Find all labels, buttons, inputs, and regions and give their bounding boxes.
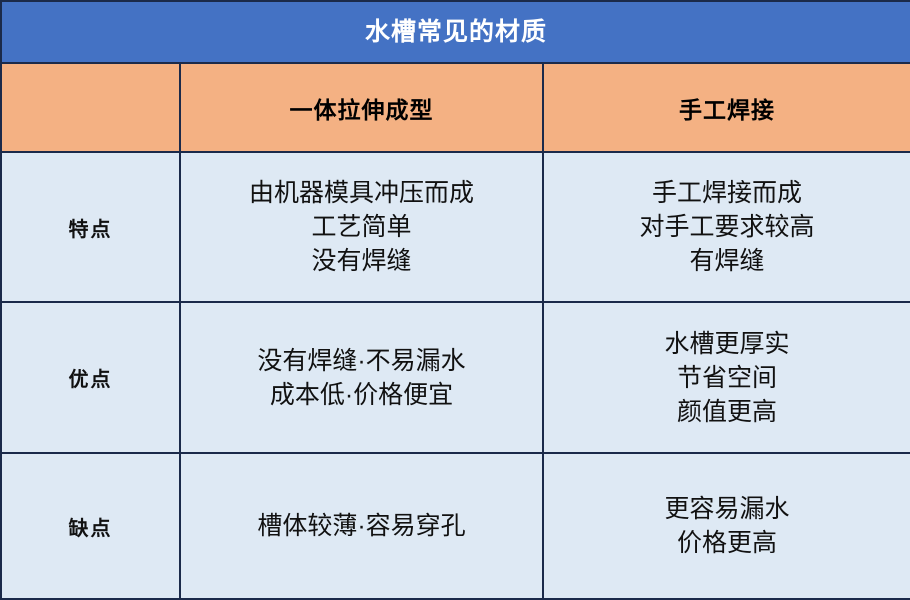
cell-text: 由机器模具冲压而成 工艺简单 没有焊缝 (181, 176, 542, 278)
cell-cons-integrated: 槽体较薄·容易穿孔 (180, 453, 543, 599)
cell-text: 手工焊接而成 对手工要求较高 有焊缝 (544, 176, 910, 278)
column-header-welded: 手工焊接 (543, 63, 910, 152)
cell-text: 槽体较薄·容易穿孔 (181, 509, 542, 543)
comparison-table-container: 水槽常见的材质 一体拉伸成型 手工焊接 特点 由机器模具冲压而成 工艺简单 没有… (0, 0, 910, 589)
row-label-feature: 特点 (1, 152, 180, 302)
row-label-cons: 缺点 (1, 453, 180, 599)
cell-text: 没有焊缝·不易漏水 成本低·价格便宜 (181, 344, 542, 412)
column-header-integrated: 一体拉伸成型 (180, 63, 543, 152)
cell-text: 水槽更厚实 节省空间 颜值更高 (544, 327, 910, 429)
cell-pros-welded: 水槽更厚实 节省空间 颜值更高 (543, 302, 910, 453)
cell-feature-integrated: 由机器模具冲压而成 工艺简单 没有焊缝 (180, 152, 543, 302)
cell-pros-integrated: 没有焊缝·不易漏水 成本低·价格便宜 (180, 302, 543, 453)
table-row: 缺点 槽体较薄·容易穿孔 更容易漏水 价格更高 (1, 453, 910, 599)
table-title: 水槽常见的材质 (1, 1, 910, 63)
cell-cons-welded: 更容易漏水 价格更高 (543, 453, 910, 599)
table-row: 特点 由机器模具冲压而成 工艺简单 没有焊缝 手工焊接而成 对手工要求较高 有焊… (1, 152, 910, 302)
header-corner-blank (1, 63, 180, 152)
table-title-row: 水槽常见的材质 (1, 1, 910, 63)
table-header-row: 一体拉伸成型 手工焊接 (1, 63, 910, 152)
sink-material-comparison-table: 水槽常见的材质 一体拉伸成型 手工焊接 特点 由机器模具冲压而成 工艺简单 没有… (0, 0, 910, 600)
cell-text: 更容易漏水 价格更高 (544, 492, 910, 560)
table-row: 优点 没有焊缝·不易漏水 成本低·价格便宜 水槽更厚实 节省空间 颜值更高 (1, 302, 910, 453)
cell-feature-welded: 手工焊接而成 对手工要求较高 有焊缝 (543, 152, 910, 302)
row-label-pros: 优点 (1, 302, 180, 453)
